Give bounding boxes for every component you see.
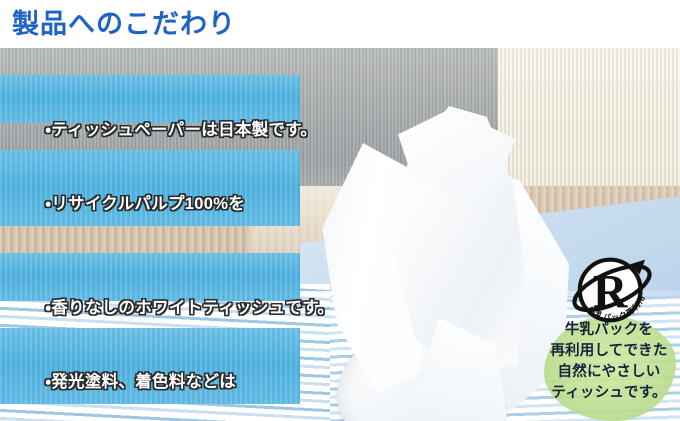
cream-wood-panel xyxy=(498,48,680,200)
feature-bar-4-line1: ・発光塗料、着色料などは xyxy=(45,373,236,391)
feature-bar-1-line1: ・ティッシュペーパーは日本製です。 xyxy=(45,121,317,139)
page-title: 製品へのこだわり xyxy=(12,4,236,44)
feature-bar-1: ・ティッシュペーパーは日本製です。 xyxy=(0,75,300,123)
product-feature-banner: 牛乳パックを 再利用してできた 自然にやさしい ティッシュです。 R 牛乳パック… xyxy=(0,0,680,421)
feature-bar-3-line1: ・香りなしのホワイトティッシュです。 xyxy=(45,299,334,317)
recycle-caption: 牛乳パックを 再利用してできた 自然にやさしい ティッシュです。 xyxy=(538,320,680,404)
banner-header: 製品へのこだわり xyxy=(0,0,680,48)
feature-bar-4-text: ・発光塗料、着色料などは 使用しておりません。 xyxy=(16,334,292,421)
feature-bar-2-line1: ・リサイクルパルプ100%を xyxy=(45,195,245,213)
feature-bar-2: ・リサイクルパルプ100%を 使用しています。 xyxy=(0,150,300,226)
feature-bar-4: ・発光塗料、着色料などは 使用しておりません。 xyxy=(0,328,300,404)
feature-bar-3: ・香りなしのホワイトティッシュです。 xyxy=(0,253,300,301)
